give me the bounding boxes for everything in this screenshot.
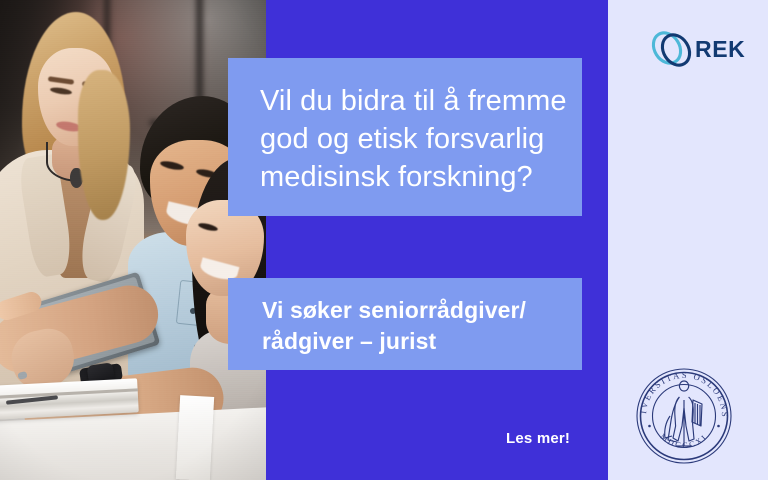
role-line-2: rådgiver – jurist: [262, 326, 562, 357]
rek-wordmark: REK: [695, 36, 745, 63]
headline-textbox: Vil du bidra til å fremme god og etisk f…: [228, 58, 582, 216]
rek-interlocking-rings-icon: [650, 28, 694, 70]
photo-vignette-overlay: [0, 0, 266, 480]
job-advert-banner: Vil du bidra til å fremme god og etisk f…: [0, 0, 768, 480]
rek-logo[interactable]: REK: [650, 26, 746, 72]
team-collaboration-photo: [0, 0, 266, 480]
uio-seal: UNIVERSITAS OSLOENSIS MDCCCXI: [632, 364, 736, 468]
role-line-1: Vi søker seniorrådgiver/: [262, 295, 562, 326]
read-more-link[interactable]: Les mer!: [506, 430, 570, 447]
role-textbox: Vi søker seniorrådgiver/ rådgiver – juri…: [228, 278, 582, 370]
headline-line-1: Vil du bidra til å fremme: [260, 82, 556, 120]
headline-line-2: god og etisk forsvarlig: [260, 120, 556, 158]
uio-seal-icon: UNIVERSITAS OSLOENSIS MDCCCXI: [632, 364, 736, 468]
headline-line-3: medisinsk forskning?: [260, 158, 556, 196]
